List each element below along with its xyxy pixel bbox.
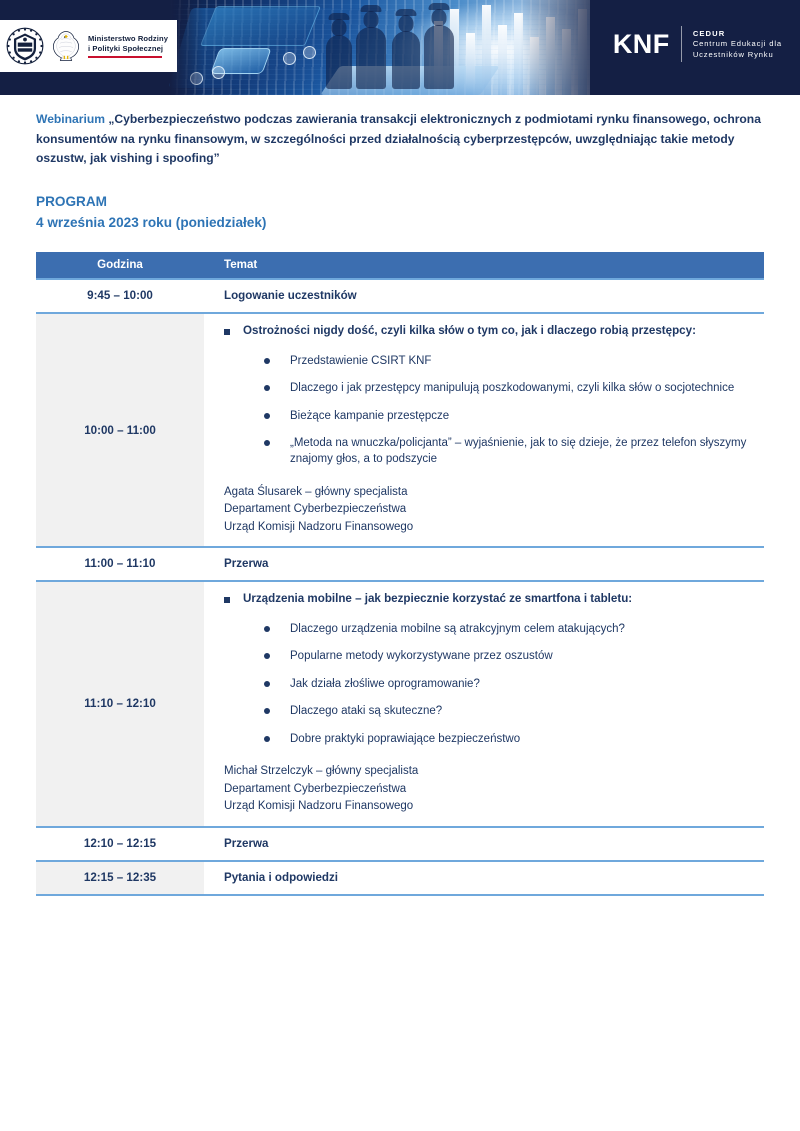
agenda-topic-cell: Logowanie uczestników (204, 279, 764, 313)
agenda-header-row: Godzina Temat (36, 252, 764, 279)
cedur-subtitle-line2: Uczestników Rynku (693, 50, 782, 61)
cedur-subtitle-line1: Centrum Edukacji dla (693, 39, 782, 50)
person-silhouette-icon (392, 31, 420, 89)
agenda-subtopic-item: Popularne metody wykorzystywane przez os… (264, 648, 756, 664)
webinar-title: Webinarium „Cyberbezpieczeństwo podczas … (36, 110, 764, 169)
agenda-subtopic-item: Dlaczego urządzenia mobilne są atrakcyjn… (264, 621, 756, 637)
square-bullet-icon (224, 329, 230, 335)
agenda-subtopic-item: Dobre praktyki poprawiające bezpieczeńst… (264, 731, 756, 747)
agenda-time-cell: 12:10 – 12:15 (36, 827, 204, 861)
agenda-table-header: Godzina Temat (36, 252, 764, 279)
cloud-icon (303, 46, 316, 59)
agenda-topic-cell: Ostrożności nigdy dość, czyli kilka słów… (204, 313, 764, 547)
agenda-subtopic-item: Dlaczego ataki są skuteczne? (264, 703, 756, 719)
agenda-subtopic-list: Przedstawienie CSIRT KNFDlaczego i jak p… (224, 353, 756, 468)
agenda-subtopic-item: Dlaczego i jak przestępcy manipulują pos… (264, 380, 756, 396)
person-silhouette-icon (424, 25, 454, 89)
agenda-row: 12:15 – 12:35Pytania i odpowiedzi (36, 861, 764, 895)
person-silhouette-icon (356, 27, 386, 89)
column-header-time: Godzina (36, 252, 204, 279)
document-page: Ministerstwo Rodziny i Polityki Społeczn… (0, 0, 800, 1131)
agenda-topic-title-text: Urządzenia mobilne – jak bezpiecznie kor… (243, 591, 632, 608)
program-date: 4 września 2023 roku (poniedziałek) (36, 212, 764, 233)
agenda-topic-text: Przerwa (224, 837, 756, 850)
agenda-topic-cell: Przerwa (204, 547, 764, 581)
agenda-row: 9:45 – 10:00Logowanie uczestników (36, 279, 764, 313)
agenda-time-cell: 10:00 – 11:00 (36, 313, 204, 547)
program-heading: PROGRAM (36, 191, 764, 212)
agenda-time-cell: 12:15 – 12:35 (36, 861, 204, 895)
square-bullet-icon (224, 597, 230, 603)
agenda-topic-title-text: Ostrożności nigdy dość, czyli kilka słów… (243, 323, 696, 340)
agenda-time-cell: 11:10 – 12:10 (36, 581, 204, 826)
column-header-topic: Temat (204, 252, 764, 279)
agenda-topic-cell: Urządzenia mobilne – jak bezpiecznie kor… (204, 581, 764, 826)
agenda-topic-text: Logowanie uczestników (224, 289, 756, 302)
police-badge-icon (6, 27, 44, 65)
agenda-speaker-info: Michał Strzelczyk – główny specjalista D… (224, 763, 756, 815)
agenda-topic-title: Urządzenia mobilne – jak bezpiecznie kor… (224, 591, 756, 608)
agenda-topic-cell: Pytania i odpowiedzi (204, 861, 764, 895)
agenda-bottom-rule (36, 895, 764, 897)
document-content: Webinarium „Cyberbezpieczeństwo podczas … (0, 110, 800, 897)
agenda-row: 11:00 – 11:10Przerwa (36, 547, 764, 581)
polish-eagle-icon (52, 29, 80, 63)
ministry-name: Ministerstwo Rodziny i Polityki Społeczn… (88, 34, 168, 57)
ministry-red-rule (88, 56, 162, 58)
knf-cedur-logo: KNF CEDUR Centrum Edukacji dla Uczestnik… (613, 26, 782, 62)
agenda-speaker-info: Agata Ślusarek – główny specjalista Depa… (224, 484, 756, 536)
agenda-topic-title: Ostrożności nigdy dość, czyli kilka słów… (224, 323, 756, 340)
agenda-table-body: 9:45 – 10:00Logowanie uczestników10:00 –… (36, 279, 764, 897)
knf-divider (681, 26, 682, 62)
circuit-board-graphic (200, 6, 321, 46)
agenda-row: 10:00 – 11:00Ostrożności nigdy dość, czy… (36, 313, 764, 547)
header-banner: Ministerstwo Rodziny i Polityki Społeczn… (0, 0, 800, 95)
agenda-bottom-rule-cell (204, 895, 764, 897)
ministry-logo-plate: Ministerstwo Rodziny i Polityki Społeczn… (0, 20, 177, 72)
knf-wordmark: KNF (613, 31, 670, 58)
agenda-time-cell: 11:00 – 11:10 (36, 547, 204, 581)
agenda-topic-text: Pytania i odpowiedzi (224, 871, 756, 884)
cedur-label: CEDUR (693, 28, 782, 39)
agenda-subtopic-item: „Metoda na wnuczka/policjanta” – wyjaśni… (264, 435, 756, 468)
ministry-name-line1: Ministerstwo Rodziny (88, 34, 168, 43)
agenda-subtopic-item: Przedstawienie CSIRT KNF (264, 353, 756, 369)
microphone-icon (212, 66, 225, 79)
document-icon (283, 52, 296, 65)
person-silhouette-icon (326, 35, 352, 89)
agenda-time-cell: 9:45 – 10:00 (36, 279, 204, 313)
agenda-topic-text: Przerwa (224, 557, 756, 570)
agenda-row: 12:10 – 12:15Przerwa (36, 827, 764, 861)
webinar-keyword: Webinarium (36, 112, 105, 126)
ministry-name-line2: i Polityki Społecznej (88, 44, 168, 53)
agenda-table: Godzina Temat 9:45 – 10:00Logowanie ucze… (36, 252, 764, 897)
agenda-topic-cell: Przerwa (204, 827, 764, 861)
banner-right-fade (520, 0, 615, 95)
agenda-subtopic-list: Dlaczego urządzenia mobilne są atrakcyjn… (224, 621, 756, 747)
agenda-row: 11:10 – 12:10Urządzenia mobilne – jak be… (36, 581, 764, 826)
agenda-subtopic-item: Jak działa złośliwe oprogramowanie? (264, 676, 756, 692)
webinar-title-text: „Cyberbezpieczeństwo podczas zawierania … (36, 112, 761, 165)
cedur-lockup-text: CEDUR Centrum Edukacji dla Uczestników R… (693, 28, 782, 61)
program-heading-block: PROGRAM 4 września 2023 roku (poniedział… (36, 191, 764, 233)
agenda-bottom-rule-cell (36, 895, 204, 897)
agenda-subtopic-item: Bieżące kampanie przestępcze (264, 408, 756, 424)
